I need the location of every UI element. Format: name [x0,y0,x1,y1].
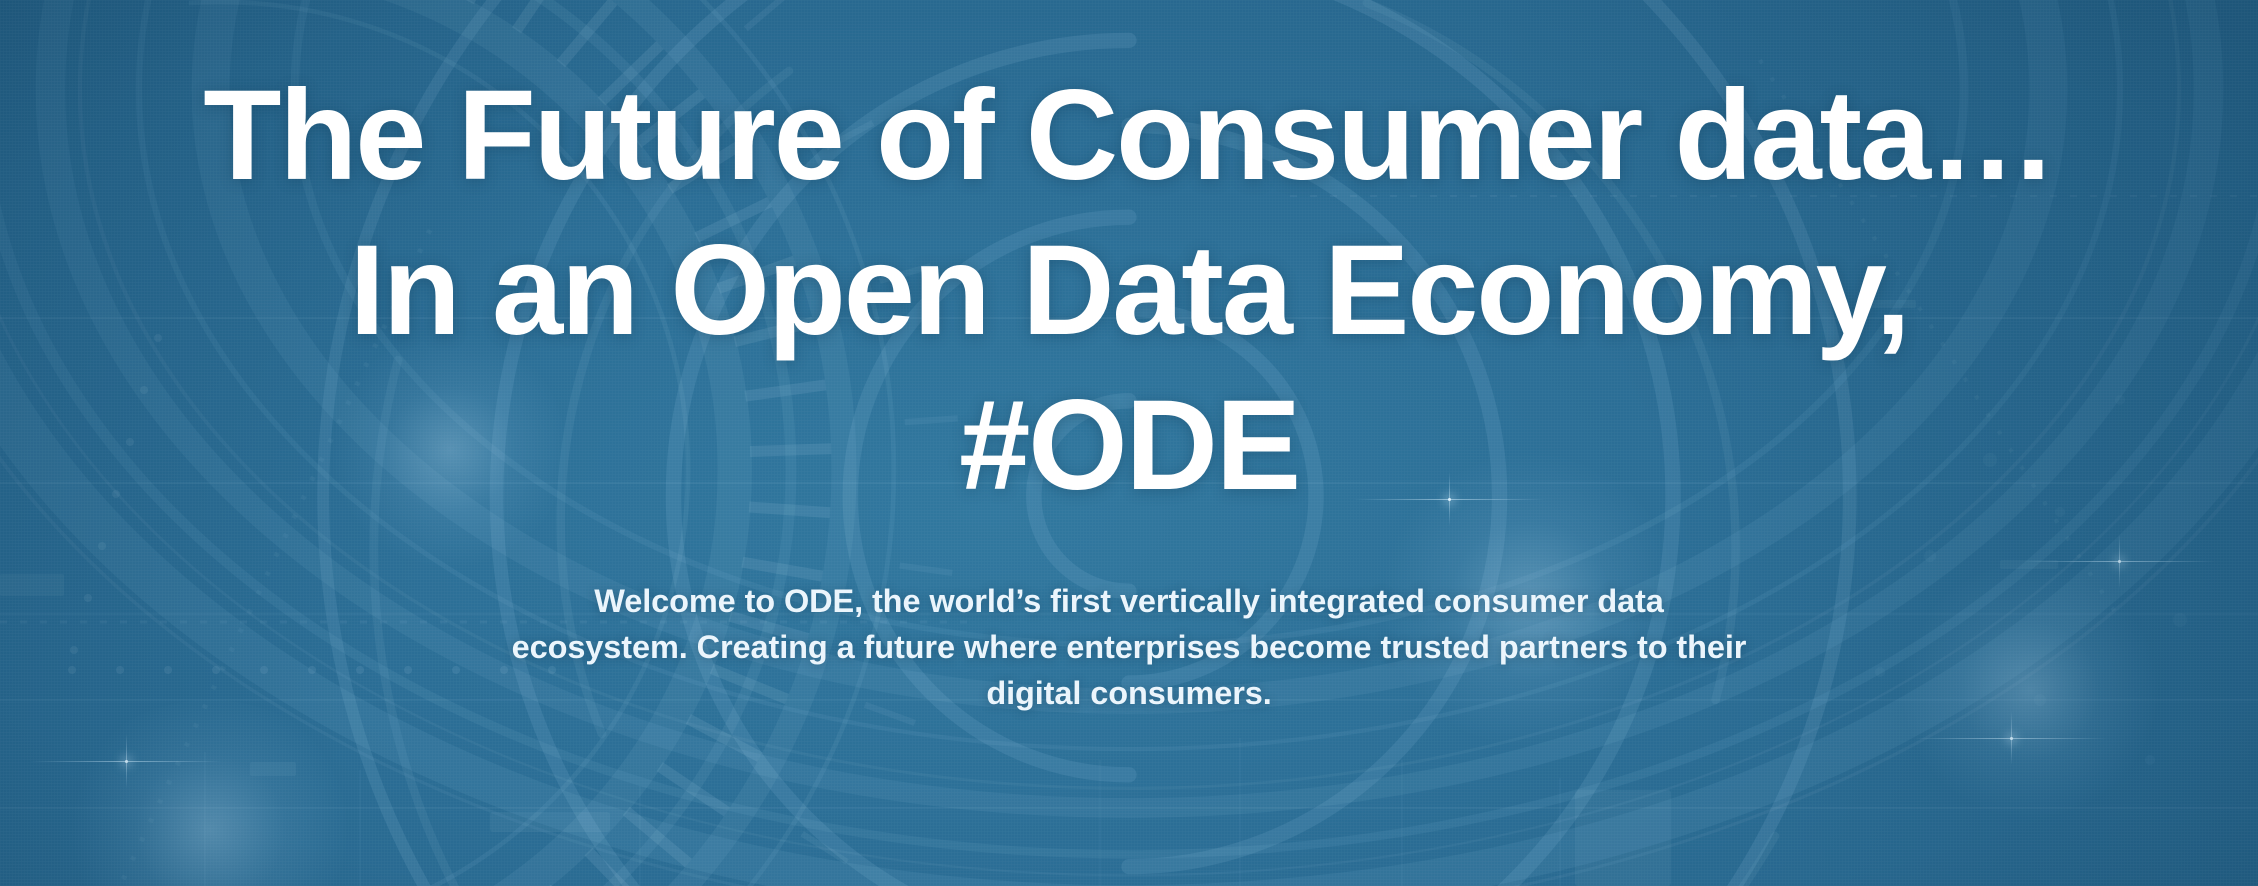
page-title: The Future of Consumer data… In an Open … [0,0,2258,523]
headline-line-3: #ODE [0,368,2258,523]
headline-line-1: The Future of Consumer data… [0,0,2258,213]
hero-subheadline: Welcome to ODE, the world’s first vertic… [509,523,1749,716]
headline-line-2: In an Open Data Economy, [0,213,2258,368]
hero-banner: The Future of Consumer data… In an Open … [0,0,2258,886]
hero-content: The Future of Consumer data… In an Open … [0,0,2258,886]
